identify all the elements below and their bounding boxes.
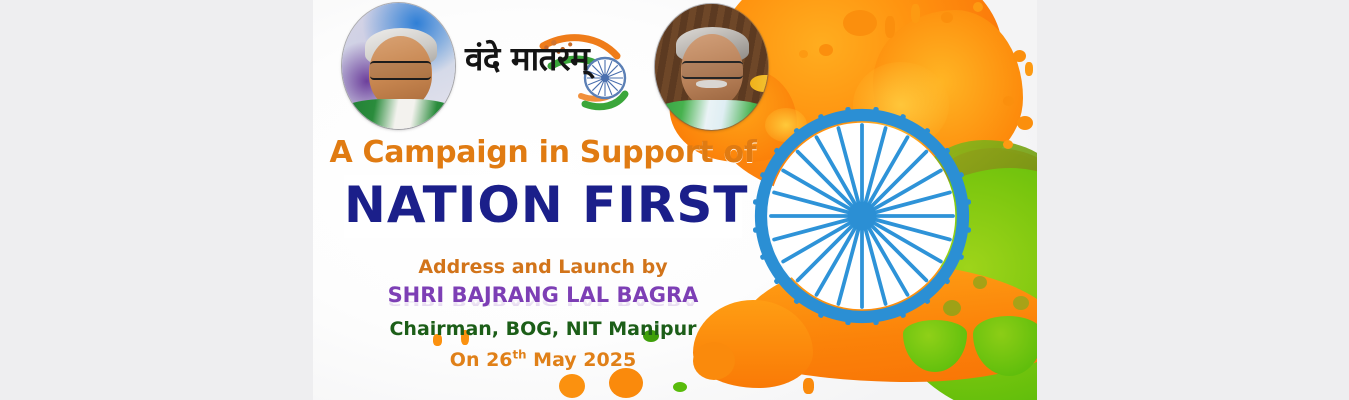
green-drip-1 <box>973 316 1037 376</box>
portrait-speaker-right <box>655 4 768 130</box>
orange-fleck-3 <box>911 4 920 23</box>
green-drip-2 <box>903 320 967 372</box>
green-droplet-5 <box>1013 296 1029 310</box>
nation-first-title: NATION FIRST <box>344 179 742 232</box>
speaker-role: Chairman, BOG, NIT Manipur <box>313 315 773 344</box>
orange-fleck-12 <box>1003 140 1013 149</box>
orange-fleck-1 <box>843 10 877 36</box>
left-gutter <box>0 0 313 400</box>
portrait-speaker-left <box>342 3 455 129</box>
orange-fleck-5 <box>973 2 983 12</box>
vande-mataram-logo: वंदे मातरम् <box>465 26 637 118</box>
speaker-name-text: SHRI BAJRANG LAL BAGRA <box>388 283 699 307</box>
event-date-suffix: May 2025 <box>527 349 637 371</box>
banner-details-block: Address and Launch by SHRI BAJRANG LAL B… <box>313 254 773 375</box>
orange-fleck-11 <box>1017 116 1033 130</box>
campaign-banner-image: वंदे मातरम् A Campaign in Support of NAT… <box>313 0 1037 400</box>
orange-droplet-3 <box>559 374 585 398</box>
green-droplet-4 <box>973 276 987 289</box>
ashoka-chakra <box>751 105 973 327</box>
banner-text-block: A Campaign in Support of NATION FIRST Ad… <box>313 136 773 374</box>
vande-mataram-text: वंदे मातरम् <box>465 42 597 75</box>
speaker-name: SHRI BAJRANG LAL BAGRA SHRI BAJRANG LAL … <box>313 281 773 309</box>
green-droplet-1 <box>673 382 687 392</box>
event-date-prefix: On 26 <box>450 349 513 371</box>
right-gutter <box>1037 0 1349 400</box>
orange-fleck-10 <box>1003 96 1014 106</box>
orange-fleck-2 <box>885 16 895 38</box>
orange-fleck-6 <box>819 44 833 56</box>
orange-fleck-9 <box>1025 62 1033 76</box>
event-date-ordinal: th <box>513 348 527 362</box>
orange-fleck-8 <box>1013 50 1026 62</box>
nation-first-title-box: NATION FIRST <box>344 175 742 238</box>
orange-fleck-7 <box>799 50 808 58</box>
event-date: On 26th May 2025 <box>313 346 773 375</box>
campaign-headline: A Campaign in Support of <box>313 136 773 169</box>
orange-fleck-4 <box>941 12 953 23</box>
orange-droplet-4 <box>803 378 814 394</box>
page-root: वंदे मातरम् A Campaign in Support of NAT… <box>0 0 1349 400</box>
address-launch-label: Address and Launch by <box>313 254 773 282</box>
